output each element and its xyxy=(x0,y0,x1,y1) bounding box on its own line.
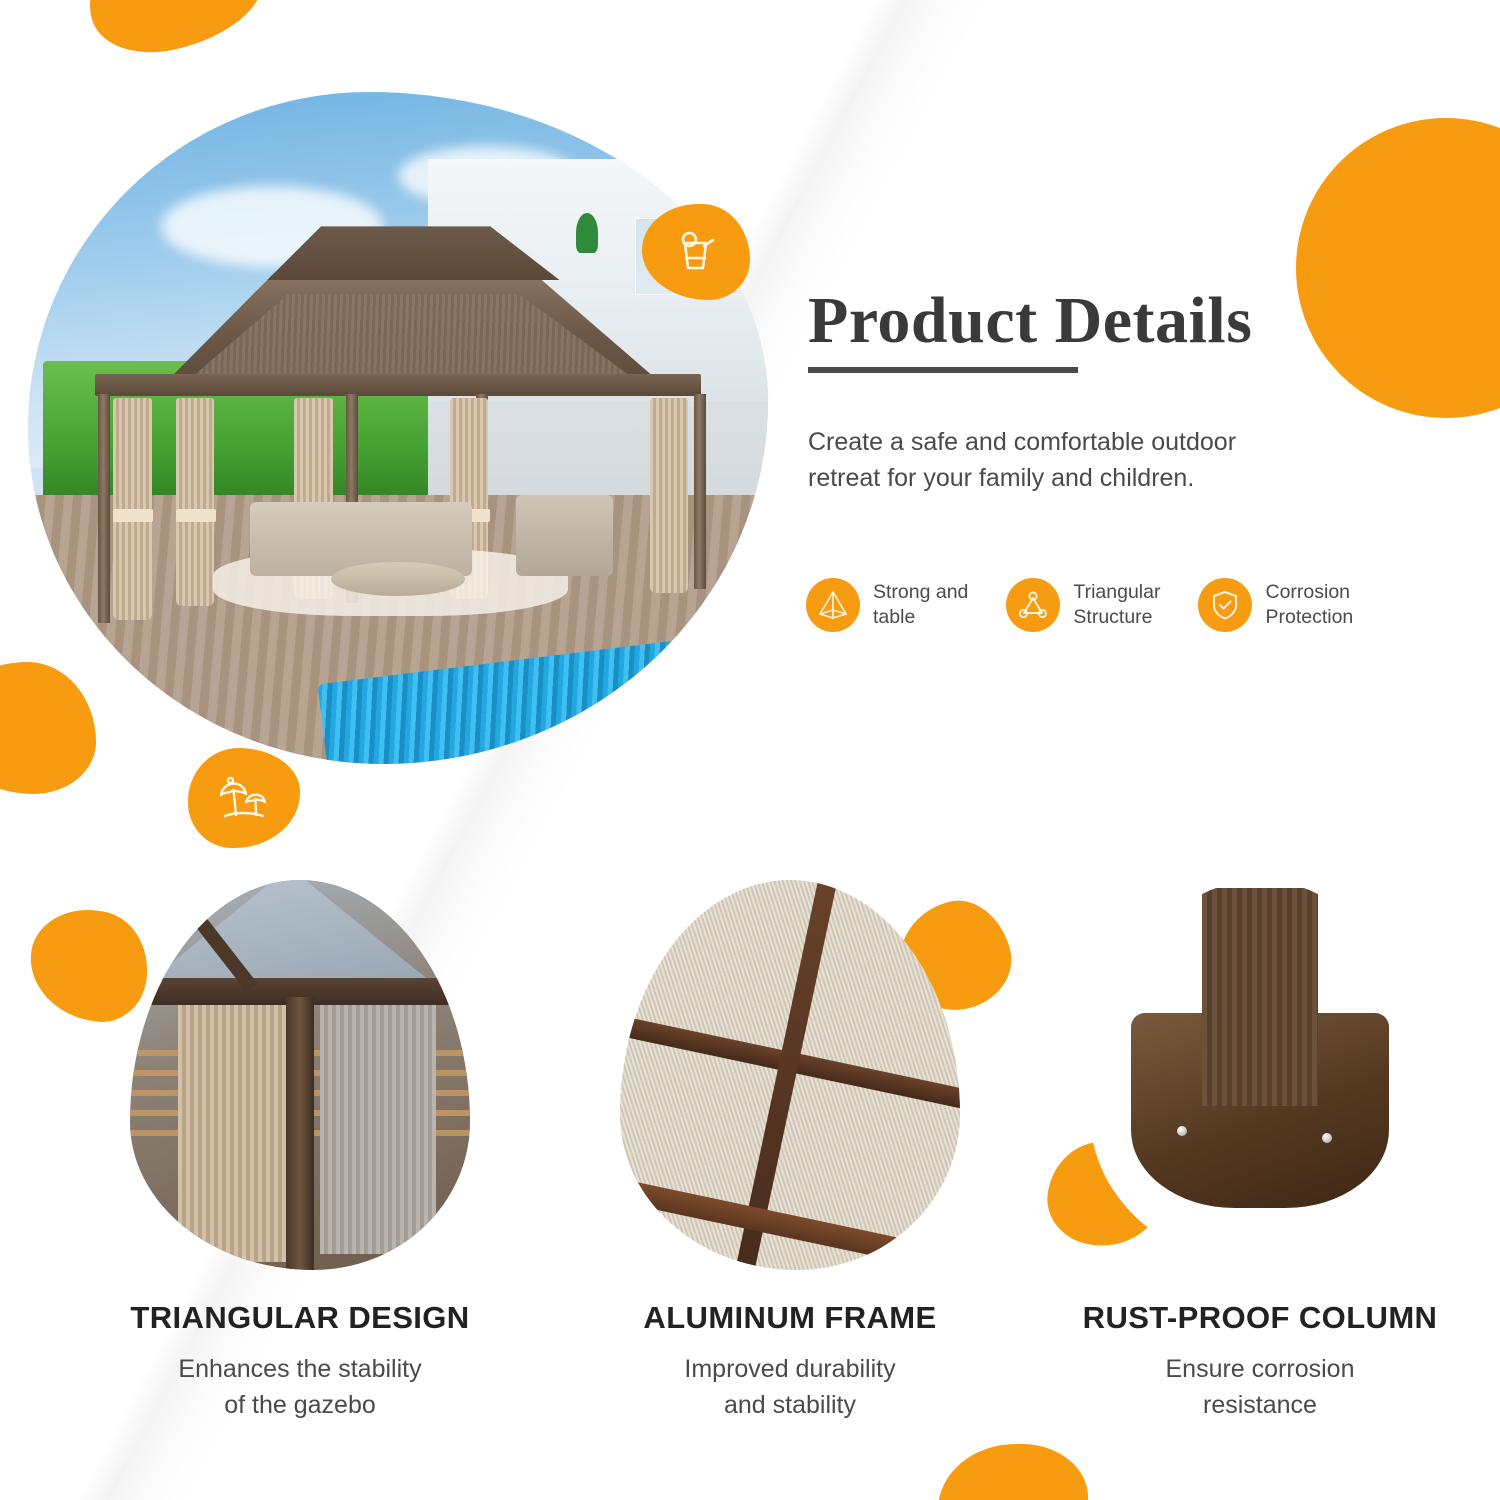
card-description: Ensure corrosion resistance xyxy=(1030,1352,1490,1423)
card-description: Improved durability and stability xyxy=(560,1352,1020,1423)
feature-label: Corrosion Protection xyxy=(1265,580,1353,630)
product-details-infographic: Product Details Create a safe and comfor… xyxy=(0,0,1500,1500)
triangle-nodes-icon xyxy=(1006,578,1060,632)
palm-tree xyxy=(576,213,598,253)
decorative-blob-bottom xyxy=(938,1444,1088,1500)
pyramid-icon xyxy=(806,578,860,632)
gazebo-curtain xyxy=(650,398,688,593)
product-details-text: Product Details Create a safe and comfor… xyxy=(808,286,1448,496)
aluminum-frame-image xyxy=(620,880,960,1270)
beach-umbrella-badge xyxy=(188,748,300,848)
cocktail-drink-icon xyxy=(668,224,724,280)
beach-umbrella-icon xyxy=(213,769,275,827)
aluminum-beam-lower xyxy=(620,1176,960,1270)
outdoor-armchair xyxy=(516,495,612,576)
feature-card: TRIANGULAR DESIGN Enhances the stability… xyxy=(70,880,530,1423)
feature-badge-row: Strong and table Triangular Structure xyxy=(806,578,1353,632)
gazebo-hero-image xyxy=(28,92,768,764)
card-title: RUST-PROOF COLUMN xyxy=(1030,1300,1490,1336)
triangular-design-image xyxy=(130,880,470,1270)
page-subtitle: Create a safe and comfortable outdoor re… xyxy=(808,425,1278,496)
feature-triangular-structure: Triangular Structure xyxy=(1006,578,1160,632)
gazebo-eave-beam xyxy=(95,374,702,396)
bolt xyxy=(1322,1133,1332,1143)
curtain-right xyxy=(320,1005,436,1255)
decorative-blob-top-left xyxy=(78,0,273,65)
gazebo-post xyxy=(694,394,706,589)
bolt xyxy=(1177,1126,1187,1136)
gazebo-post xyxy=(98,394,110,622)
curtain-tie xyxy=(113,509,153,522)
curtain-tie xyxy=(176,509,216,522)
aluminum-column xyxy=(1202,888,1318,1106)
page-title: Product Details xyxy=(808,286,1448,355)
feature-corrosion-protection: Corrosion Protection xyxy=(1198,578,1353,632)
shield-check-icon xyxy=(1198,578,1252,632)
hero-section xyxy=(28,92,768,764)
feature-strong-and-stable: Strong and table xyxy=(806,578,968,632)
gazebo-curtain xyxy=(176,398,214,606)
card-description: Enhances the stability of the gazebo xyxy=(70,1352,530,1423)
title-underline xyxy=(808,367,1078,373)
feature-card: ALUMINUM FRAME Improved durability and s… xyxy=(560,880,1020,1423)
feature-label: Strong and table xyxy=(873,580,968,630)
card-title: ALUMINUM FRAME xyxy=(560,1300,1020,1336)
feature-card: RUST-PROOF COLUMN Ensure corrosion resis… xyxy=(1030,880,1490,1423)
curtain-left xyxy=(178,1005,287,1262)
rust-proof-column-image xyxy=(1090,880,1430,1270)
feature-label: Triangular Structure xyxy=(1073,580,1160,630)
corner-post xyxy=(286,997,313,1270)
coffee-table xyxy=(331,562,464,596)
card-title: TRIANGULAR DESIGN xyxy=(70,1300,530,1336)
